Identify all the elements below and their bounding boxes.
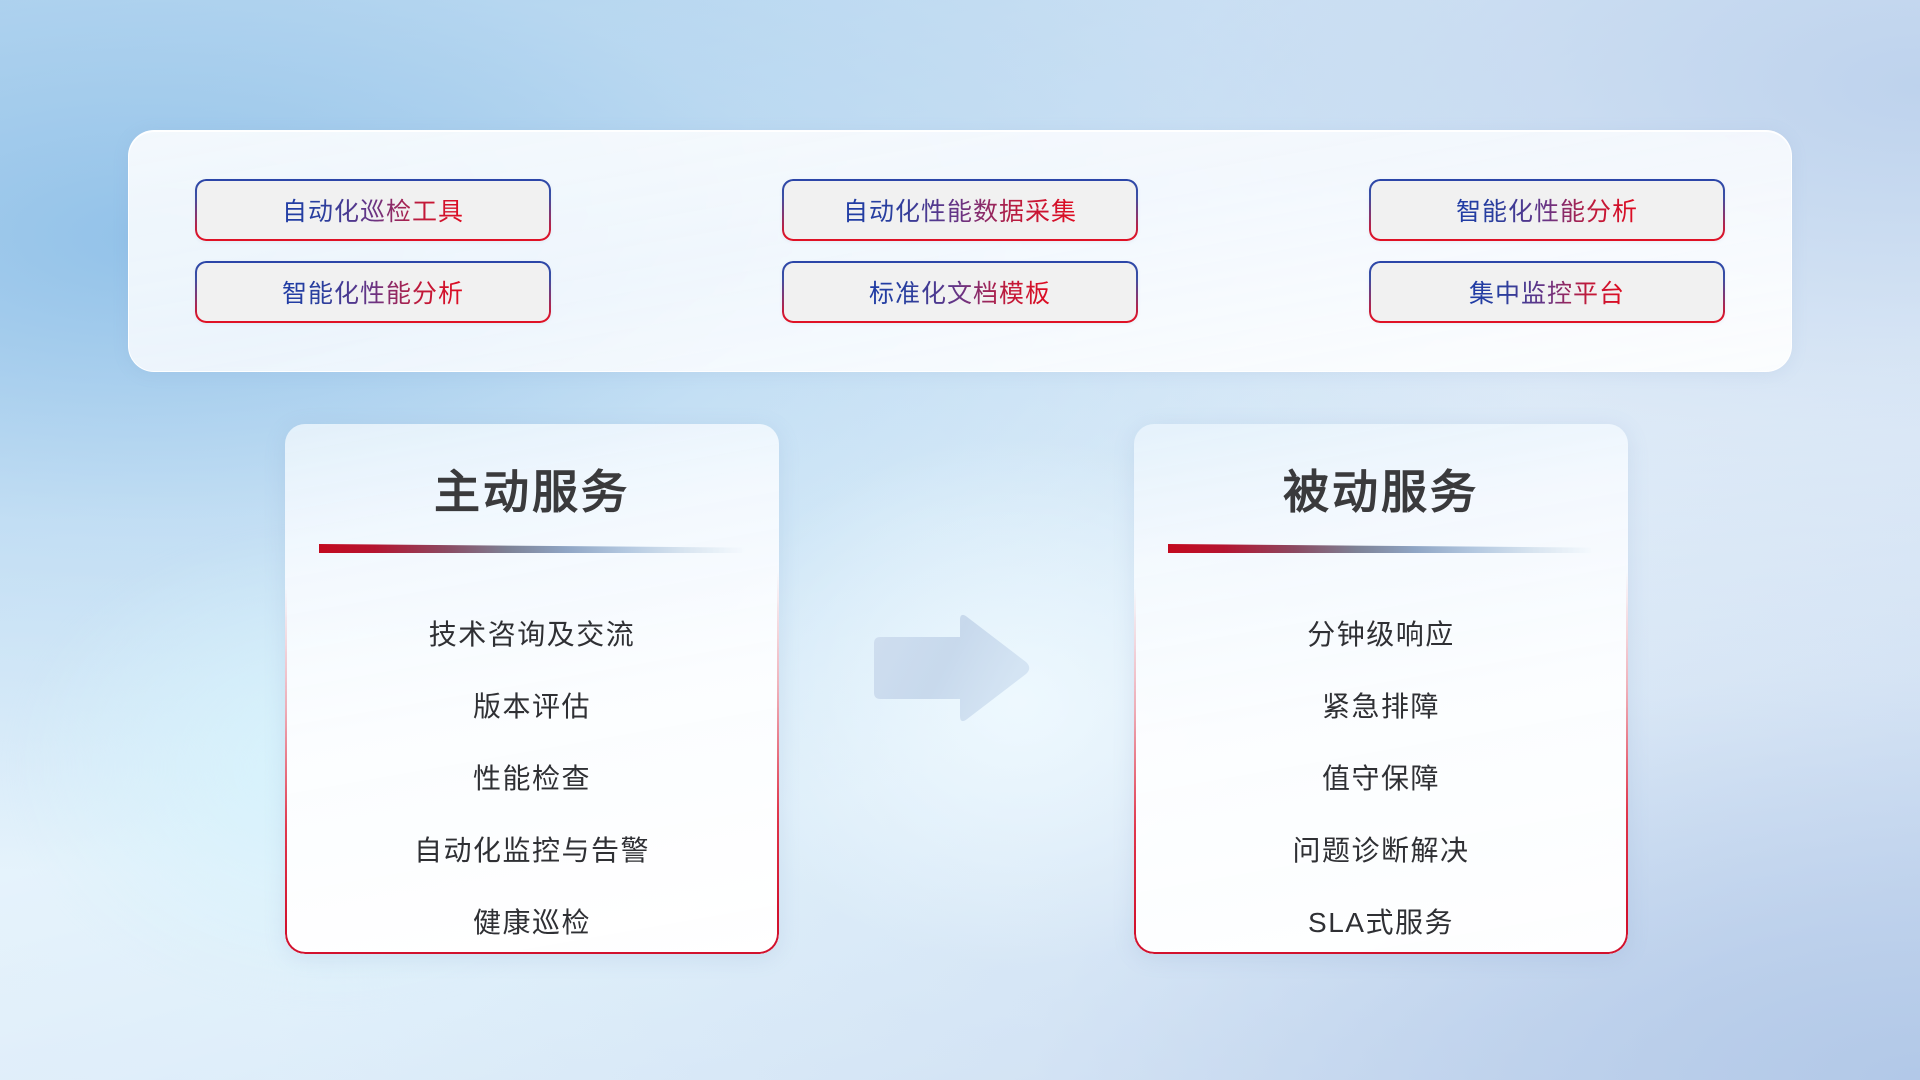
service-list-item: 技术咨询及交流 bbox=[429, 597, 636, 669]
capability-pill-label: 标准化文档模板 bbox=[869, 274, 1051, 310]
service-card-title: 被动服务 bbox=[1134, 456, 1628, 522]
service-list-item: 健康巡检 bbox=[473, 885, 591, 954]
service-list-item: 值守保障 bbox=[1322, 741, 1440, 813]
card-title-divider-bar bbox=[1168, 544, 1594, 553]
service-list-item: 自动化监控与告警 bbox=[414, 813, 650, 885]
card-title-divider-bar bbox=[319, 544, 745, 553]
capability-pill-automated-performance-data-collection[interactable]: 自动化性能数据采集 bbox=[782, 179, 1138, 241]
service-list-item: 版本评估 bbox=[473, 669, 591, 741]
capability-pill-standardized-document-template[interactable]: 标准化文档模板 bbox=[782, 261, 1138, 323]
capability-pill-intelligent-performance-analysis[interactable]: 智能化性能分析 bbox=[1369, 179, 1725, 241]
capability-pill-label: 自动化巡检工具 bbox=[282, 192, 464, 228]
service-list-item: 性能检查 bbox=[473, 741, 591, 813]
service-list-item: 分钟级响应 bbox=[1307, 597, 1455, 669]
service-card-passive: 被动服务 分钟级响应 紧急排障 值守保障 问题诊断解决 SLA式服务 bbox=[1134, 424, 1628, 954]
capability-panel: 自动化巡检工具 自动化性能数据采集 智能化性能分析 智能化性能分析 标准化文档模… bbox=[128, 130, 1792, 372]
card-title-divider bbox=[319, 544, 745, 553]
capability-pill-label: 智能化性能分析 bbox=[1456, 192, 1638, 228]
service-item-list: 分钟级响应 紧急排障 值守保障 问题诊断解决 SLA式服务 bbox=[1134, 597, 1628, 954]
arrow-right-icon bbox=[868, 610, 1034, 726]
service-list-item: 问题诊断解决 bbox=[1292, 813, 1469, 885]
service-list-item: 紧急排障 bbox=[1322, 669, 1440, 741]
capability-pill-automation-inspection-tool[interactable]: 自动化巡检工具 bbox=[195, 179, 551, 241]
service-item-list: 技术咨询及交流 版本评估 性能检查 自动化监控与告警 健康巡检 bbox=[285, 597, 779, 954]
capability-pill-label: 自动化性能数据采集 bbox=[843, 192, 1077, 228]
capability-row-2: 智能化性能分析 标准化文档模板 集中监控平台 bbox=[195, 261, 1725, 323]
capability-row-1: 自动化巡检工具 自动化性能数据采集 智能化性能分析 bbox=[195, 179, 1725, 241]
capability-pill-intelligent-performance-analysis-2[interactable]: 智能化性能分析 bbox=[195, 261, 551, 323]
capability-pill-label: 集中监控平台 bbox=[1469, 274, 1625, 310]
card-title-divider bbox=[1168, 544, 1594, 553]
service-card-title: 主动服务 bbox=[285, 456, 779, 522]
service-card-active: 主动服务 技术咨询及交流 版本评估 性能检查 自动化监控与告警 健康巡检 bbox=[285, 424, 779, 954]
capability-pill-label: 智能化性能分析 bbox=[282, 274, 464, 310]
service-list-item: SLA式服务 bbox=[1308, 885, 1454, 954]
capability-pill-centralized-monitoring-platform[interactable]: 集中监控平台 bbox=[1369, 261, 1725, 323]
